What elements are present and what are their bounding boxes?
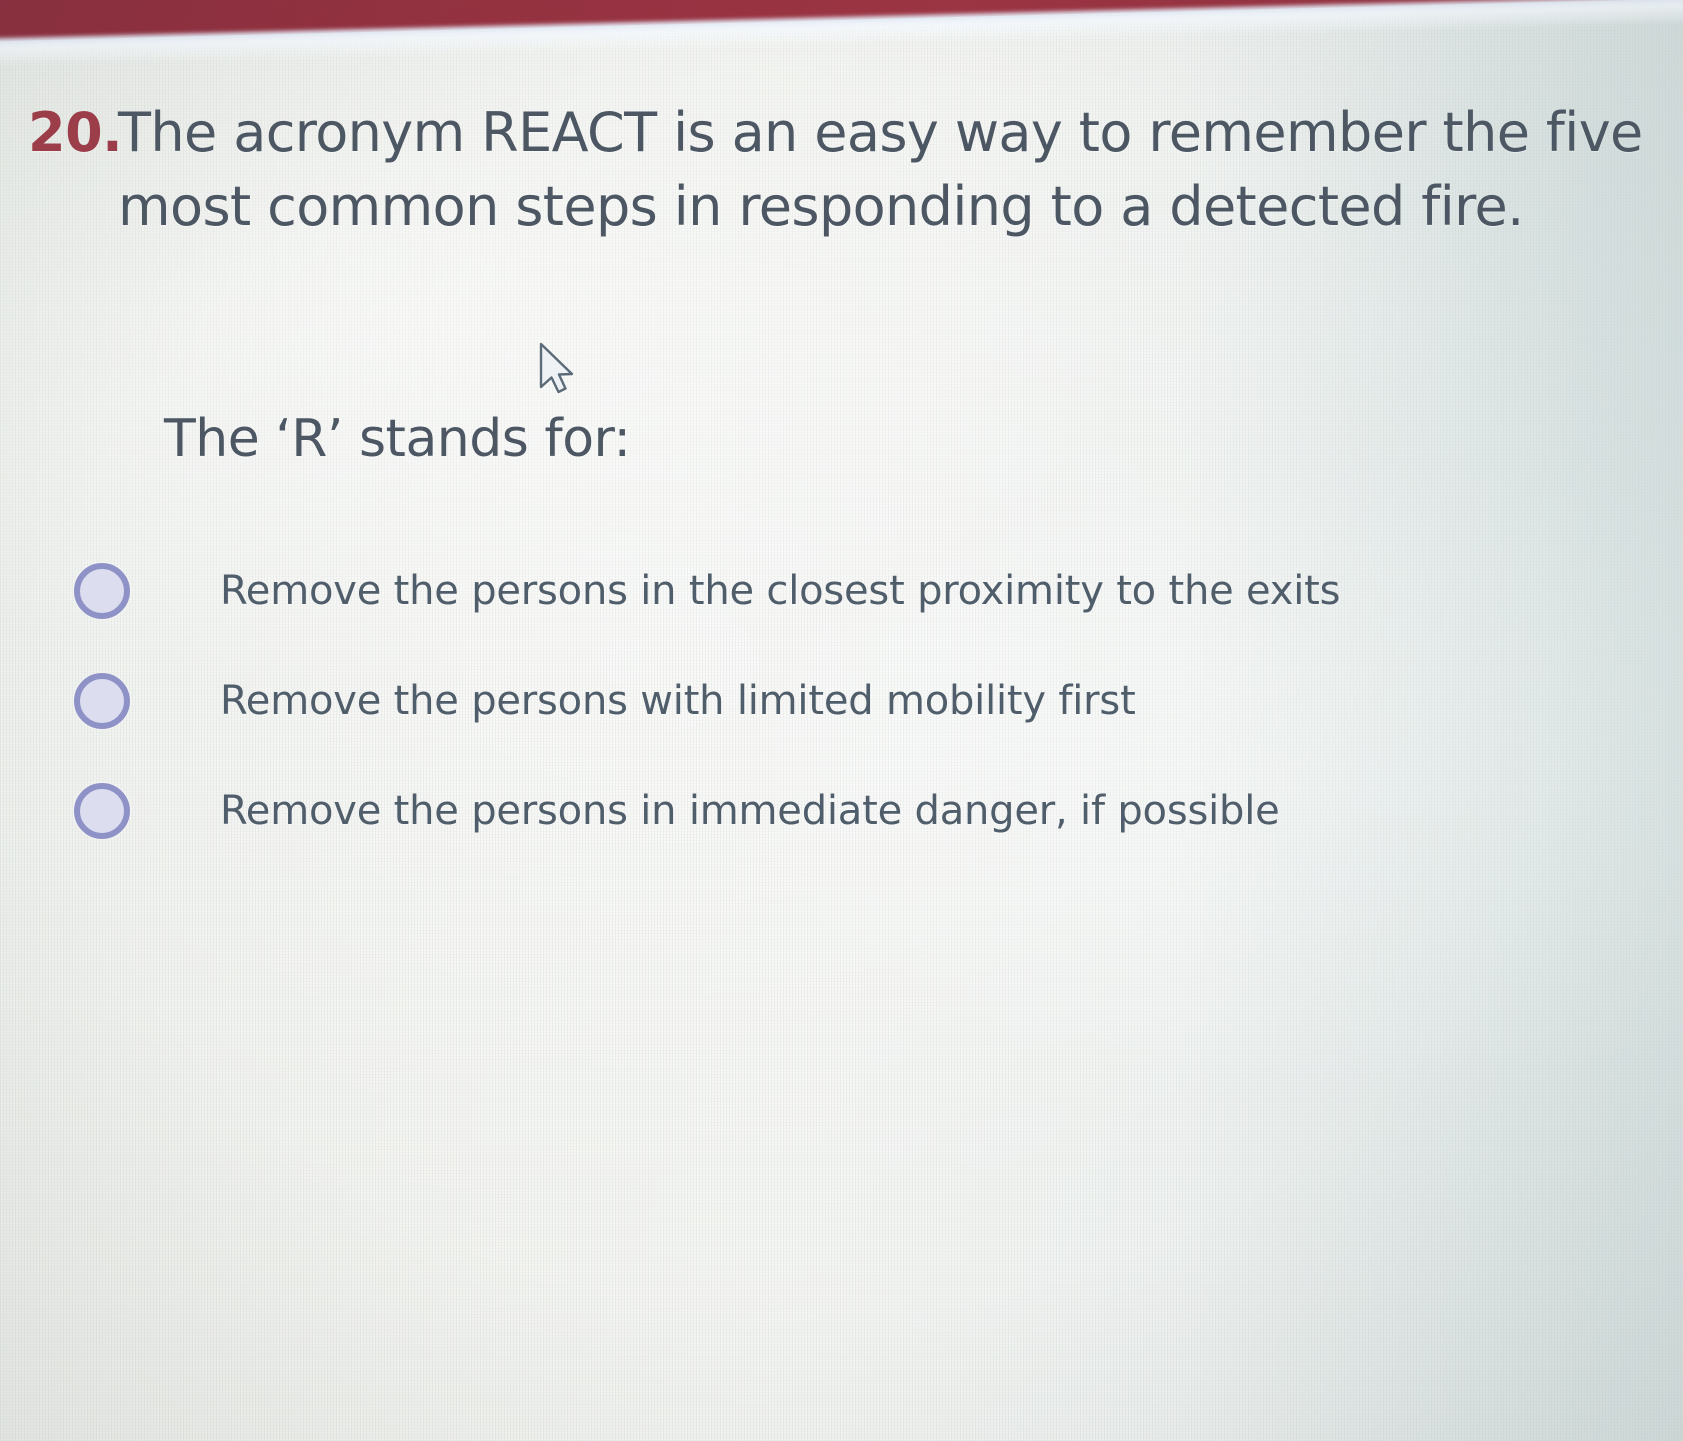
option-b-row[interactable]: Remove the persons with limited mobility…	[0, 646, 1683, 756]
option-c-row[interactable]: Remove the persons in immediate danger, …	[0, 756, 1683, 866]
screen-photo: 20. The acronym REACT is an easy way to …	[0, 0, 1683, 1441]
option-b-label[interactable]: Remove the persons with limited mobility…	[220, 677, 1683, 725]
option-a-row[interactable]: Remove the persons in the closest proxim…	[0, 536, 1683, 646]
question-text: The acronym REACT is an easy way to reme…	[118, 96, 1683, 244]
option-c-label[interactable]: Remove the persons in immediate danger, …	[220, 787, 1683, 835]
option-a-label[interactable]: Remove the persons in the closest proxim…	[220, 567, 1683, 615]
question-block: 20. The acronym REACT is an easy way to …	[0, 96, 1683, 244]
answer-options-list: Remove the persons in the closest proxim…	[0, 536, 1683, 866]
question-stem: The ‘R’ stands for:	[164, 404, 631, 474]
question-number: 20.	[0, 96, 118, 170]
radio-button-option-b[interactable]	[74, 673, 130, 729]
radio-button-option-a[interactable]	[74, 563, 130, 619]
radio-button-option-c[interactable]	[74, 783, 130, 839]
app-header-bar	[0, 0, 1683, 80]
